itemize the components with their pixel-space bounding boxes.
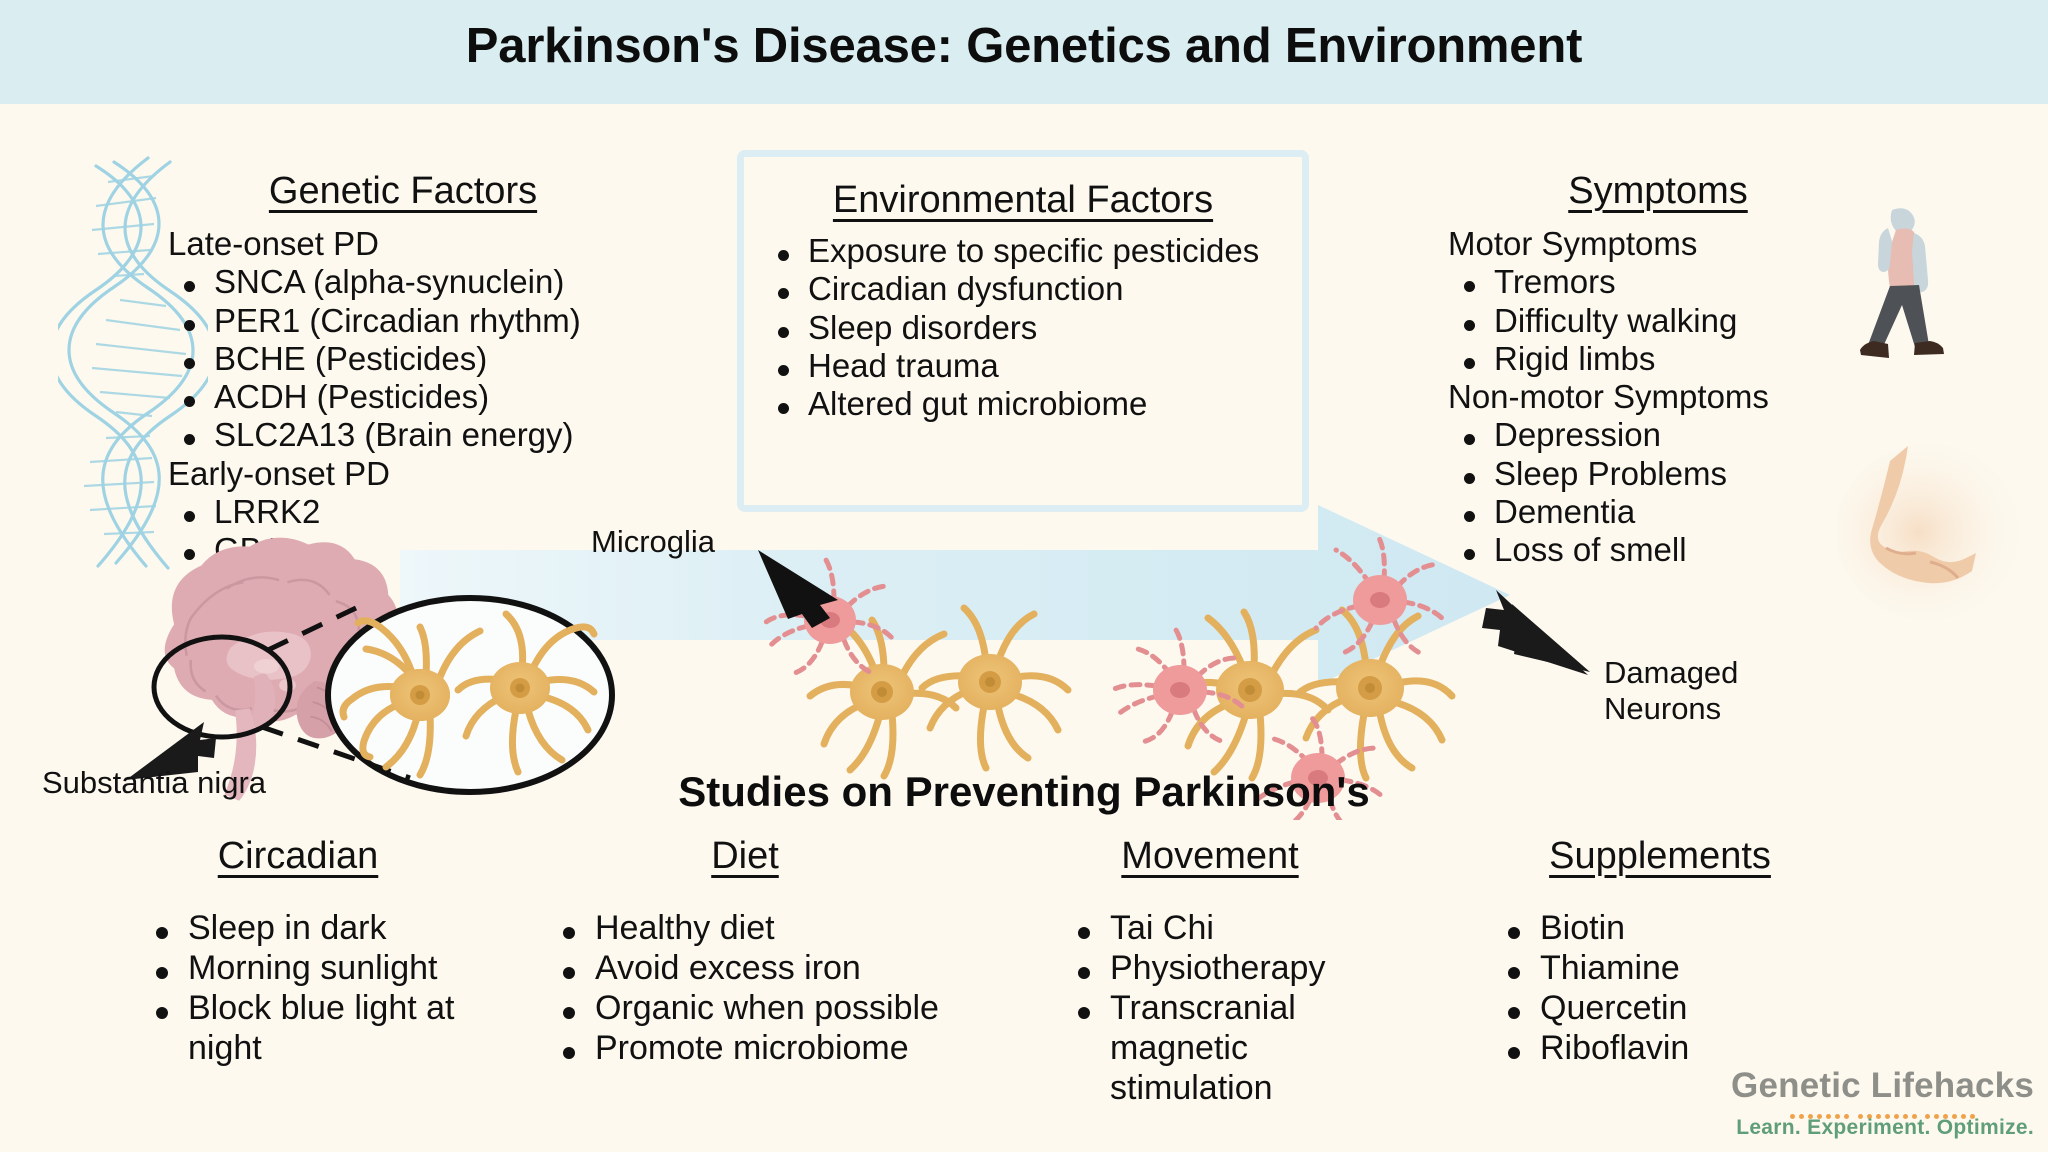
microglia-label: Microglia xyxy=(591,524,715,560)
list-item: Healthy diet xyxy=(545,908,945,948)
column-list: Biotin Thiamine Quercetin Riboflavin xyxy=(1490,908,1830,1068)
nonmotor-symptoms-label: Non-motor Symptoms xyxy=(1448,378,1868,416)
list-item: Sleep Problems xyxy=(1448,455,1868,493)
list-item: Difficulty walking xyxy=(1448,302,1868,340)
motor-symptoms-label: Motor Symptoms xyxy=(1448,225,1868,263)
mid-neurons xyxy=(766,560,1068,776)
substantia-nigra-circle xyxy=(154,637,290,737)
column-heading: Circadian xyxy=(138,835,458,878)
studies-column-diet: Diet Healthy diet Avoid excess iron Orga… xyxy=(545,835,945,1068)
early-onset-list: LRRK2 GBA xyxy=(168,493,638,570)
list-item: Physiotherapy xyxy=(1060,948,1360,988)
studies-column-movement: Movement Tai Chi Physiotherapy Transcran… xyxy=(1060,835,1360,1109)
list-item: Biotin xyxy=(1490,908,1830,948)
column-heading: Diet xyxy=(545,835,945,878)
page-title: Parkinson's Disease: Genetics and Enviro… xyxy=(0,18,2048,74)
list-item: Avoid excess iron xyxy=(545,948,945,988)
list-item: Sleep in dark xyxy=(138,908,458,948)
early-onset-label: Early-onset PD xyxy=(168,455,638,493)
studies-heading: Studies on Preventing Parkinson's xyxy=(0,768,2048,816)
damaged-neurons-callout-arrow xyxy=(1482,590,1590,675)
list-item: SNCA (alpha-synuclein) xyxy=(168,263,638,301)
late-onset-label: Late-onset PD xyxy=(168,225,638,263)
list-item: Quercetin xyxy=(1490,988,1830,1028)
list-item: Rigid limbs xyxy=(1448,340,1868,378)
list-item: GBA xyxy=(168,531,638,569)
late-onset-list: SNCA (alpha-synuclein) PER1 (Circadian r… xyxy=(168,263,638,454)
logo-dot-divider xyxy=(1731,1108,2034,1115)
list-item: Head trauma xyxy=(762,347,1302,385)
nonmotor-symptoms-list: Depression Sleep Problems Dementia Loss … xyxy=(1448,416,1868,569)
symptoms-section: Symptoms Motor Symptoms Tremors Difficul… xyxy=(1448,170,1868,569)
list-item: BCHE (Pesticides) xyxy=(168,340,638,378)
symptoms-heading: Symptoms xyxy=(1448,170,1868,213)
damaged-neurons-label-line1: Damaged xyxy=(1604,655,1738,691)
genetic-factors-heading: Genetic Factors xyxy=(168,170,638,213)
list-item: Morning sunlight xyxy=(138,948,458,988)
healthy-neurons xyxy=(343,614,594,775)
environmental-factors-heading: Environmental Factors xyxy=(744,179,1302,222)
list-item: Thiamine xyxy=(1490,948,1830,988)
logo-tagline: Learn. Experiment. Optimize. xyxy=(1731,1116,2034,1140)
brain-illustration xyxy=(165,538,398,801)
list-item: Block blue light at night xyxy=(138,988,458,1068)
motor-symptoms-list: Tremors Difficulty walking Rigid limbs xyxy=(1448,263,1868,378)
microglia-callout-arrow xyxy=(758,550,838,628)
list-item: Sleep disorders xyxy=(762,309,1302,347)
title-banner: Parkinson's Disease: Genetics and Enviro… xyxy=(0,0,2048,104)
list-item: Circadian dysfunction xyxy=(762,270,1302,308)
list-item: PER1 (Circadian rhythm) xyxy=(168,302,638,340)
environmental-factors-list: Exposure to specific pesticides Circadia… xyxy=(762,232,1302,423)
column-list: Sleep in dark Morning sunlight Block blu… xyxy=(138,908,458,1068)
infographic-canvas: Parkinson's Disease: Genetics and Enviro… xyxy=(0,0,2048,1152)
environmental-factors-box: Environmental Factors Exposure to specif… xyxy=(737,150,1309,512)
list-item: Depression xyxy=(1448,416,1868,454)
list-item: Loss of smell xyxy=(1448,531,1868,569)
list-item: Tai Chi xyxy=(1060,908,1360,948)
magnifier-oval xyxy=(328,598,612,792)
list-item: LRRK2 xyxy=(168,493,638,531)
studies-column-circadian: Circadian Sleep in dark Morning sunlight… xyxy=(138,835,458,1068)
microglia-cell xyxy=(1112,630,1244,742)
magnifier-connector-lines xyxy=(262,608,410,778)
list-item: ACDH (Pesticides) xyxy=(168,378,638,416)
microglia-cell xyxy=(766,560,894,674)
list-item: Promote microbiome xyxy=(545,1028,945,1068)
list-item: Exposure to specific pesticides xyxy=(762,232,1302,270)
damaged-neurons-label: Damaged Neurons xyxy=(1604,655,1738,726)
column-heading: Movement xyxy=(1060,835,1360,878)
list-item: Riboflavin xyxy=(1490,1028,1830,1068)
logo-name: Genetic Lifehacks xyxy=(1731,1066,2034,1106)
studies-column-supplements: Supplements Biotin Thiamine Quercetin Ri… xyxy=(1490,835,1830,1068)
list-item: Organic when possible xyxy=(545,988,945,1028)
list-item: Tremors xyxy=(1448,263,1868,301)
brand-logo: Genetic Lifehacks Learn. Experiment. Opt… xyxy=(1731,1066,2034,1140)
column-list: Healthy diet Avoid excess iron Organic w… xyxy=(545,908,945,1068)
list-item: Altered gut microbiome xyxy=(762,385,1302,423)
list-item: SLC2A13 (Brain energy) xyxy=(168,416,638,454)
microglia-cell xyxy=(1316,536,1444,654)
column-list: Tai Chi Physiotherapy Transcranial magne… xyxy=(1060,908,1360,1109)
column-heading: Supplements xyxy=(1490,835,1830,878)
list-item: Transcranial magnetic stimulation xyxy=(1060,988,1360,1108)
genetic-factors-section: Genetic Factors Late-onset PD SNCA (alph… xyxy=(168,170,638,569)
damaged-neurons-label-line2: Neurons xyxy=(1604,691,1738,727)
list-item: Dementia xyxy=(1448,493,1868,531)
